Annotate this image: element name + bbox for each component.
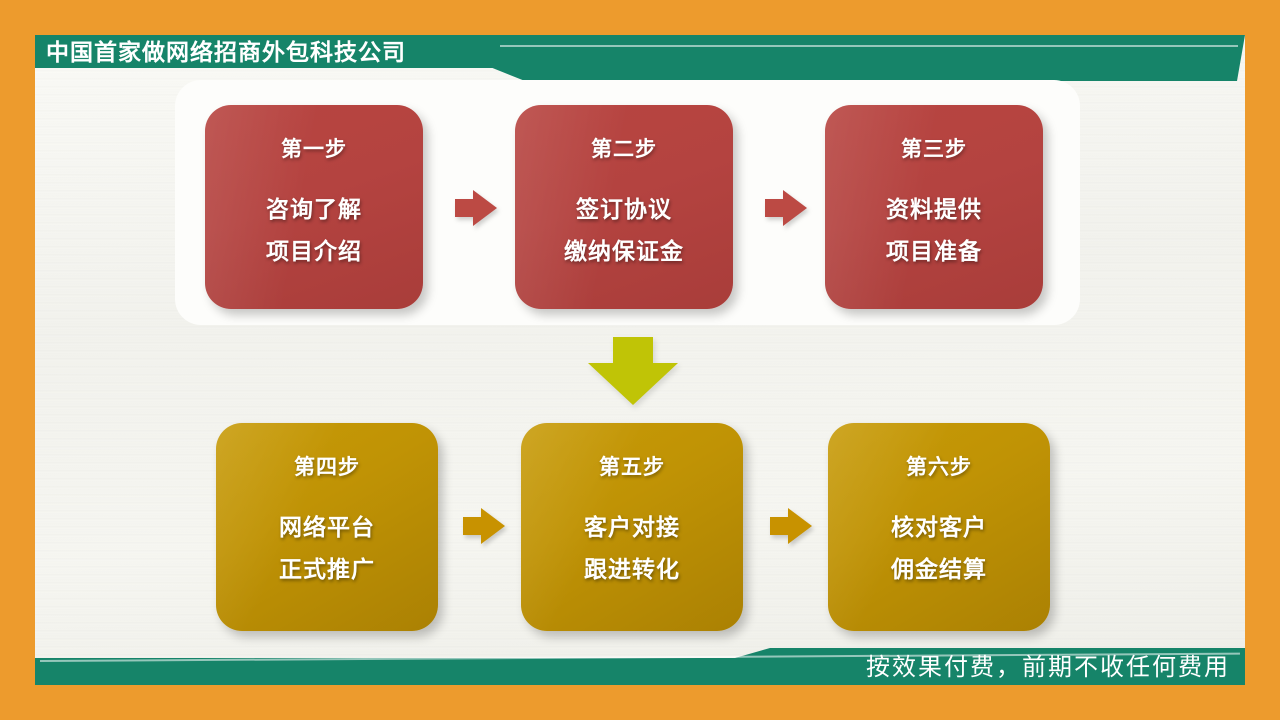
slide-canvas: 中国首家做网络招商外包科技公司 第一步 咨询了解 项目介绍 第二步 签订协议 缴… <box>0 0 1280 720</box>
step-4-line-2: 正式推广 <box>279 559 375 582</box>
footer-tagline: 按效果付费，前期不收任何费用 <box>866 650 1230 684</box>
arrow-shaft <box>613 337 653 365</box>
arrow-head <box>481 508 505 544</box>
step-6-title: 第六步 <box>906 451 972 481</box>
arrow-head <box>783 190 807 226</box>
arrow-shaft <box>770 517 790 535</box>
step-2-line-1: 签订协议 <box>576 199 672 222</box>
step-box-5[interactable]: 第五步 客户对接 跟进转化 <box>521 423 743 631</box>
step-2-title: 第二步 <box>591 133 657 163</box>
arrow-right-icon-step1-step2 <box>455 190 497 226</box>
arrow-shaft <box>463 517 483 535</box>
arrow-shaft <box>455 199 475 217</box>
step-box-2[interactable]: 第二步 签订协议 缴纳保证金 <box>515 105 733 309</box>
step-6-line-2: 佣金结算 <box>891 559 987 582</box>
arrow-right-icon-step4-step5 <box>463 508 505 544</box>
arrow-right-icon-step5-step6 <box>770 508 812 544</box>
arrow-head <box>588 363 678 405</box>
step-box-6[interactable]: 第六步 核对客户 佣金结算 <box>828 423 1050 631</box>
step-5-title: 第五步 <box>599 451 665 481</box>
step-box-4[interactable]: 第四步 网络平台 正式推广 <box>216 423 438 631</box>
step-4-line-1: 网络平台 <box>279 517 375 540</box>
arrow-right-icon-step2-step3 <box>765 190 807 226</box>
step-1-line-2: 项目介绍 <box>266 241 362 264</box>
step-box-1[interactable]: 第一步 咨询了解 项目介绍 <box>205 105 423 309</box>
arrow-down-icon-row1-row2 <box>588 337 678 405</box>
step-3-line-1: 资料提供 <box>886 199 982 222</box>
arrow-shaft <box>765 199 785 217</box>
step-6-line-1: 核对客户 <box>891 517 987 540</box>
step-5-line-1: 客户对接 <box>584 517 680 540</box>
step-3-title: 第三步 <box>901 133 967 163</box>
step-box-3[interactable]: 第三步 资料提供 项目准备 <box>825 105 1043 309</box>
step-1-title: 第一步 <box>281 133 347 163</box>
header-hairline-divider <box>500 45 1238 47</box>
step-1-line-1: 咨询了解 <box>266 199 362 222</box>
arrow-head <box>473 190 497 226</box>
page-title: 中国首家做网络招商外包科技公司 <box>46 38 406 68</box>
step-2-line-2: 缴纳保证金 <box>564 241 684 264</box>
arrow-head <box>788 508 812 544</box>
step-4-title: 第四步 <box>294 451 360 481</box>
step-5-line-2: 跟进转化 <box>584 559 680 582</box>
step-3-line-2: 项目准备 <box>886 241 982 264</box>
